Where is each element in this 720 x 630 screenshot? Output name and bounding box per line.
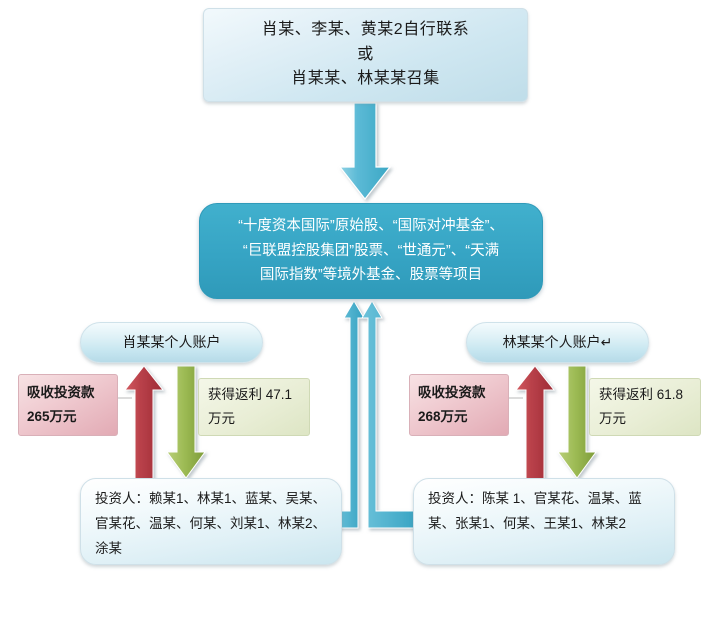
- investors-box-left: 投资人：赖某1、林某1、蓝某、吴某、官某花、温某、何某、刘某1、林某2、涂某: [80, 478, 342, 565]
- absorbed-investment-label-left: 吸收投资款265万元: [18, 374, 118, 436]
- account-label-left: 肖某某个人账户: [81, 332, 262, 354]
- diagram-canvas: 肖某、李某、黄某2自行联系 或 肖某某、林某某召集 “十度资本国际”原始股、“国…: [0, 0, 720, 630]
- investors-label-left: 投资人：赖某1、林某1、蓝某、吴某、官某花、温某、何某、刘某1、林某2、涂某: [95, 487, 327, 562]
- account-label-right: 林某某个人账户↵: [467, 332, 648, 354]
- arrow-investment-right-up-icon: [516, 366, 554, 482]
- center-project-line-3: 国际指数”等境外基金、股票等项目: [260, 267, 482, 283]
- rebate-text-right: 获得返利 61.8万元: [599, 383, 691, 432]
- top-source-text: 肖某、李某、黄某2自行联系 或 肖某某、林某某召集: [204, 18, 527, 92]
- investors-box-right: 投资人：陈某 1、官某花、温某、蓝某、张某1、何某、王某1、林某2: [413, 478, 675, 565]
- center-project-line-2: “巨联盟控股集团”股票、“世通元”、“天满: [243, 243, 499, 259]
- center-project-line-1: “十度资本国际”原始股、“国际对冲基金”、: [238, 218, 504, 234]
- center-project-box: “十度资本国际”原始股、“国际对冲基金”、 “巨联盟控股集团”股票、“世通元”、…: [199, 203, 543, 299]
- top-source-line-1: 肖某、李某、黄某2自行联系: [262, 21, 469, 38]
- rebate-label-right: 获得返利 61.8万元: [589, 378, 701, 436]
- investors-label-right: 投资人：陈某 1、官某花、温某、蓝某、张某1、何某、王某1、林某2: [428, 487, 660, 537]
- absorbed-investment-text-left: 吸收投资款265万元: [27, 381, 109, 428]
- arrow-investment-left-up-icon: [125, 366, 163, 482]
- rebate-text-left: 获得返利 47.1万元: [208, 383, 300, 432]
- top-source-box: 肖某、李某、黄某2自行联系 或 肖某某、林某某召集: [203, 8, 528, 102]
- rebate-label-left: 获得返利 47.1万元: [198, 378, 310, 436]
- account-box-left: 肖某某个人账户: [80, 322, 263, 363]
- absorbed-investment-text-right: 吸收投资款268万元: [418, 381, 500, 428]
- account-box-right: 林某某个人账户↵: [466, 322, 649, 363]
- top-source-line-3: 肖某某、林某某召集: [291, 70, 440, 87]
- center-project-text: “十度资本国际”原始股、“国际对冲基金”、 “巨联盟控股集团”股票、“世通元”、…: [214, 214, 528, 288]
- arrow-top-to-center-icon: [340, 103, 390, 199]
- absorbed-investment-label-right: 吸收投资款268万元: [409, 374, 509, 436]
- top-source-line-2: 或: [357, 46, 374, 63]
